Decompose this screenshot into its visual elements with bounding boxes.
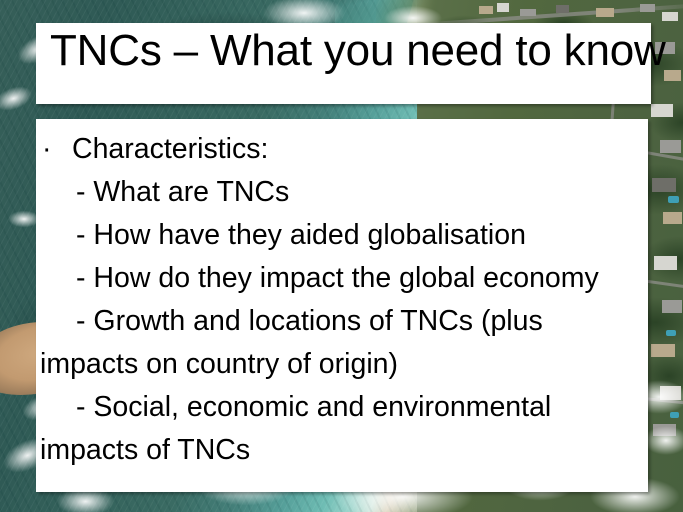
rooftop [664,70,681,81]
bullet-heading-row: ·Characteristics: [40,128,642,171]
surf-foam [642,425,683,456]
rooftop [662,300,682,313]
rooftop [651,344,675,357]
rooftop [662,12,678,21]
rooftop [479,6,493,14]
list-item: - Social, economic and environmental imp… [40,386,642,472]
swimming-pool [668,196,679,203]
rooftop [652,178,676,192]
slide-body-content: ·Characteristics: - What are TNCs - How … [40,128,642,472]
rooftop [556,5,569,13]
rooftop [663,212,682,224]
rooftop [520,9,536,16]
rooftop [640,4,655,12]
list-item: - How do they impact the global economy [40,257,642,300]
swimming-pool [666,330,676,336]
bullet-dot-icon: · [40,128,72,171]
rooftop [497,3,509,12]
rooftop [660,140,681,153]
slide-title: TNCs – What you need to know [50,26,645,76]
list-item: - Growth and locations of TNCs (plus imp… [40,300,642,386]
rooftop [654,256,677,270]
bullet-heading-label: Characteristics: [72,133,268,165]
rooftop [651,104,673,117]
slide-body-panel: ·Characteristics: - What are TNCs - How … [36,119,648,492]
rooftop [596,8,614,17]
list-item: - How have they aided globalisation [40,214,642,257]
slide-title-panel: TNCs – What you need to know [36,23,651,104]
presentation-slide: TNCs – What you need to know ·Characteri… [0,0,683,512]
list-item: - What are TNCs [40,171,642,214]
